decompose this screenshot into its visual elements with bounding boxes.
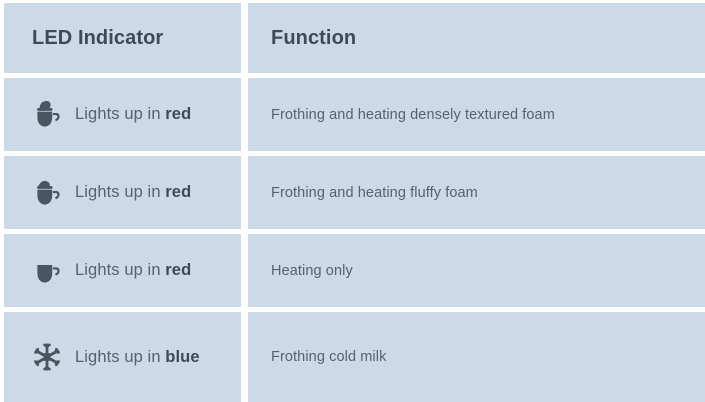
indicator-label: Lights up in red: [75, 105, 191, 124]
function-description: Frothing and heating fluffy foam: [248, 185, 478, 201]
column-header-function: Function: [248, 27, 356, 50]
indicator-label: Lights up in red: [75, 183, 191, 202]
indicator-color-word: blue: [165, 348, 199, 366]
indicator-prefix: Lights up in: [75, 183, 165, 201]
function-description: Frothing and heating densely textured fo…: [248, 107, 555, 123]
indicator-prefix: Lights up in: [75, 348, 165, 366]
indicator-group: Lights up in red: [4, 254, 191, 288]
cell-function: Frothing cold milk: [248, 312, 705, 402]
cup-plain-icon: [30, 254, 64, 288]
indicator-label: Lights up in red: [75, 261, 191, 280]
snowflake-icon: [30, 340, 64, 374]
cell-led-indicator: Lights up in red: [4, 234, 241, 307]
indicator-label: Lights up in blue: [75, 348, 200, 367]
cup-dense-foam-icon: [30, 98, 64, 132]
header-cell-led-indicator: LED Indicator: [4, 3, 241, 73]
cell-led-indicator: Lights up in blue: [4, 312, 241, 402]
cell-led-indicator: Lights up in red: [4, 78, 241, 151]
indicator-prefix: Lights up in: [75, 261, 165, 279]
indicator-color-word: red: [165, 183, 191, 201]
table-row: Lights up in blue Frothing cold milk: [4, 312, 705, 402]
indicator-color-word: red: [165, 261, 191, 279]
function-description: Heating only: [248, 263, 353, 279]
table-row: Lights up in red Heating only: [4, 234, 705, 307]
header-cell-function: Function: [248, 3, 705, 73]
cell-function: Frothing and heating densely textured fo…: [248, 78, 705, 151]
indicator-group: Lights up in blue: [4, 340, 200, 374]
led-indicator-table-root: LED Indicator Function: [0, 0, 705, 400]
cell-function: Frothing and heating fluffy foam: [248, 156, 705, 229]
led-indicator-table: LED Indicator Function: [4, 3, 705, 400]
indicator-color-word: red: [165, 105, 191, 123]
function-description: Frothing cold milk: [248, 349, 386, 365]
table-row: Lights up in red Frothing and heating fl…: [4, 156, 705, 229]
table-header-row: LED Indicator Function: [4, 3, 705, 73]
column-header-led-indicator: LED Indicator: [4, 27, 163, 50]
indicator-group: Lights up in red: [4, 98, 191, 132]
indicator-prefix: Lights up in: [75, 105, 165, 123]
table-row: Lights up in red Frothing and heating de…: [4, 78, 705, 151]
indicator-group: Lights up in red: [4, 176, 191, 210]
cell-function: Heating only: [248, 234, 705, 307]
cup-fluffy-foam-icon: [30, 176, 64, 210]
cell-led-indicator: Lights up in red: [4, 156, 241, 229]
